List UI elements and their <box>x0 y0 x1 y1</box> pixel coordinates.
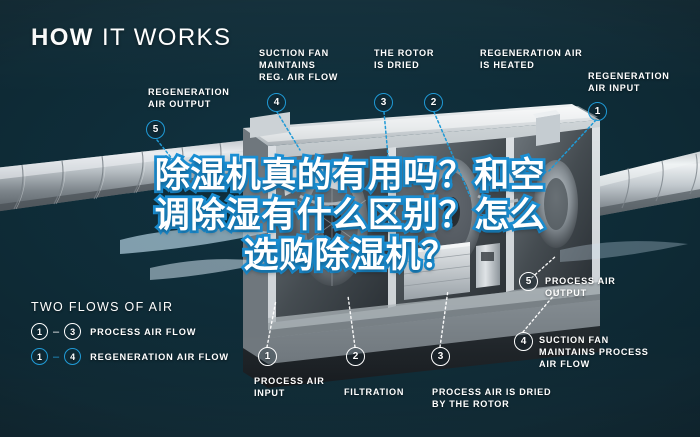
legend-chip-to: 3 <box>64 323 81 340</box>
legend-row-regeneration: 1 – 4 REGENERATION AIR FLOW <box>31 348 229 365</box>
label-process-air-input: PROCESS AIR INPUT <box>254 375 325 399</box>
legend-dash: – <box>53 326 59 338</box>
marker-filtration[interactable]: 2 <box>346 347 365 366</box>
title-bold: HOW <box>31 24 94 51</box>
marker-suction-fan-process[interactable]: 4 <box>514 332 533 351</box>
headline-line-1: 除湿机真的有用吗？和空 <box>52 156 648 196</box>
label-regeneration-air-input: REGENERATION AIR INPUT <box>588 70 670 94</box>
legend-chip-from: 1 <box>31 323 48 340</box>
headline-overlay: 除湿机真的有用吗？和空 调除湿有什么区别？怎么 选购除湿机？ <box>0 156 700 276</box>
legend-label-process: PROCESS AIR FLOW <box>90 327 196 337</box>
label-filtration: FILTRATION <box>344 386 404 398</box>
legend: TWO FLOWS OF AIR 1 – 3 PROCESS AIR FLOW … <box>31 300 229 373</box>
label-regeneration-air-output: REGENERATION AIR OUTPUT <box>148 86 230 110</box>
legend-title: TWO FLOWS OF AIR <box>31 300 229 314</box>
headline-line-3: 选购除湿机？ <box>52 236 648 276</box>
title-light: IT WORKS <box>102 24 231 51</box>
legend-chip-to: 4 <box>64 348 81 365</box>
marker-suction-fan-reg[interactable]: 4 <box>267 93 286 112</box>
marker-regeneration-air-input[interactable]: 1 <box>588 102 607 121</box>
headline-line-2: 调除湿有什么区别？怎么 <box>52 196 648 236</box>
label-regeneration-air-heated: REGENERATION AIR IS HEATED <box>480 47 582 71</box>
marker-regeneration-air-output[interactable]: 5 <box>146 120 165 139</box>
marker-process-air-input[interactable]: 1 <box>258 347 277 366</box>
label-suction-fan-process: SUCTION FAN MAINTAINS PROCESS AIR FLOW <box>539 334 649 370</box>
label-process-air-output: PROCESS AIR OUTPUT <box>545 275 616 299</box>
legend-dash: – <box>53 351 59 363</box>
legend-chip-from: 1 <box>31 348 48 365</box>
marker-regeneration-air-heated[interactable]: 2 <box>424 93 443 112</box>
regeneration-inlet <box>533 110 560 146</box>
marker-process-air-dried[interactable]: 3 <box>431 347 450 366</box>
infographic-canvas: HOW IT WORKS 5 4 3 2 1 5 1 2 3 4 REGENER… <box>0 0 700 437</box>
label-process-air-dried: PROCESS AIR IS DRIED BY THE ROTOR <box>432 386 551 410</box>
legend-label-regeneration: REGENERATION AIR FLOW <box>90 352 229 362</box>
label-suction-fan-reg: SUCTION FAN MAINTAINS REG. AIR FLOW <box>259 47 338 83</box>
legend-row-process: 1 – 3 PROCESS AIR FLOW <box>31 323 229 340</box>
page-title: HOW IT WORKS <box>31 26 231 50</box>
label-rotor-dried: THE ROTOR IS DRIED <box>374 47 434 71</box>
marker-rotor-dried[interactable]: 3 <box>374 93 393 112</box>
